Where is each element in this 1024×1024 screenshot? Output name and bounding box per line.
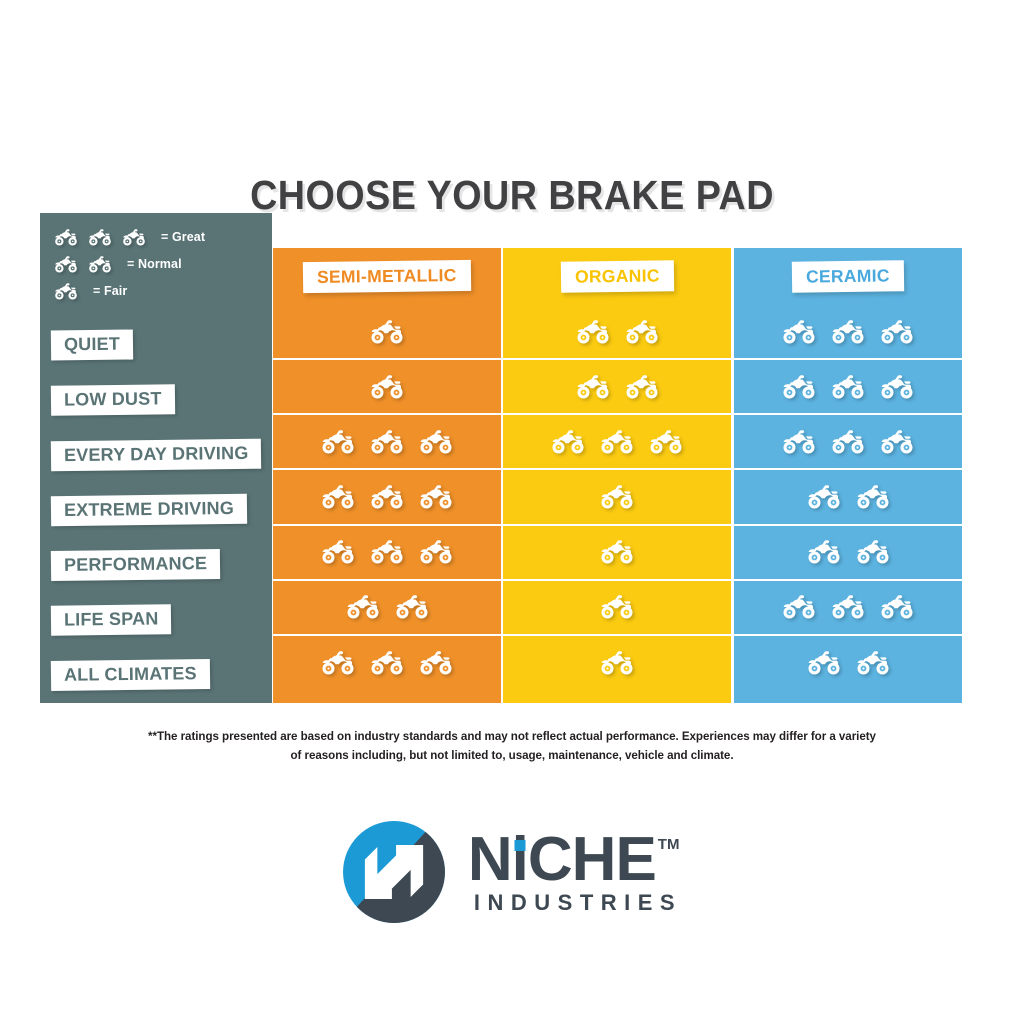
atv-icon [367, 482, 407, 512]
legend-row-great: = Great [52, 225, 267, 249]
atv-icon [853, 648, 893, 678]
table-cell [503, 470, 731, 525]
table-cell [273, 526, 501, 581]
atv-icon [877, 427, 917, 457]
atv-icon [86, 227, 114, 248]
criteria-label: EXTREME DRIVING [51, 494, 247, 526]
atv-icon [646, 427, 686, 457]
page-title: CHOOSE YOUR BRAKE PAD [41, 172, 983, 219]
atv-icon [573, 317, 613, 347]
rating-icons [779, 592, 917, 622]
atv-icon [416, 427, 456, 457]
wordmark-i-stem: i [512, 825, 528, 894]
rating-icons [597, 648, 637, 678]
rating-icons [318, 482, 456, 512]
rating-icons [318, 648, 456, 678]
atv-icon [120, 227, 148, 248]
list-item: QUIET [40, 317, 272, 372]
criteria-label: EVERY DAY DRIVING [51, 439, 262, 471]
atv-icon [367, 317, 407, 347]
table-cell [273, 305, 501, 360]
column-header: ORGANIC [503, 248, 731, 305]
atv-icon [804, 482, 844, 512]
column-body [503, 305, 731, 703]
rating-icons [573, 372, 662, 402]
atv-icon [392, 592, 432, 622]
rating-icons [573, 317, 662, 347]
table-cell [734, 305, 962, 360]
atv-icon [828, 317, 868, 347]
column-ceramic: CERAMIC [734, 213, 962, 703]
logo-wordmark-block: N i CHE TM INDUSTRIES [468, 828, 682, 916]
table-cell [273, 581, 501, 636]
rating-icons [804, 482, 893, 512]
atv-icon [877, 592, 917, 622]
table-cell [734, 360, 962, 415]
table-cell [734, 470, 962, 525]
legend-icons [52, 227, 154, 248]
criteria-label: ALL CLIMATES [51, 659, 210, 691]
list-item: LOW DUST [40, 372, 272, 427]
table-cell [503, 415, 731, 470]
atv-icon [622, 372, 662, 402]
legend-label: = Normal [127, 257, 182, 271]
rating-icons [804, 537, 893, 567]
wordmark-i: i [512, 832, 528, 888]
rating-icons [318, 537, 456, 567]
rating-icons [779, 317, 917, 347]
column-header: SEMI-METALLIC [273, 248, 501, 305]
column-header-label: SEMI-METALLIC [303, 260, 471, 294]
table-cell [273, 636, 501, 691]
atv-icon [597, 427, 637, 457]
table-cell [503, 581, 731, 636]
atv-icon [877, 372, 917, 402]
legend-label: = Great [161, 230, 205, 244]
rating-legend: = Great = Normal = Fair [52, 225, 267, 306]
wordmark-che: CHE [528, 832, 656, 888]
rating-icons [548, 427, 686, 457]
table-cell [273, 415, 501, 470]
atv-icon [828, 592, 868, 622]
list-item: EVERY DAY DRIVING [40, 427, 272, 482]
column-body [734, 305, 962, 703]
column-organic: ORGANIC [503, 213, 731, 703]
atv-icon [804, 648, 844, 678]
legend-row-normal: = Normal [52, 252, 267, 276]
column-body [273, 305, 501, 703]
niche-circle-n-monogram-icon [342, 820, 446, 924]
atv-icon [416, 648, 456, 678]
criteria-label: LOW DUST [51, 384, 175, 415]
atv-icon [828, 372, 868, 402]
atv-icon [367, 648, 407, 678]
rating-icons [318, 427, 456, 457]
atv-icon [779, 317, 819, 347]
rating-icons [779, 427, 917, 457]
wordmark-i-dot [514, 840, 525, 851]
brake-pad-comparison-table: = Great = Normal = Fair QUIET LOW DUST E… [40, 213, 964, 703]
atv-icon [828, 427, 868, 457]
atv-icon [779, 427, 819, 457]
wordmark: N i CHE TM [468, 832, 682, 888]
rating-icons [343, 592, 432, 622]
atv-icon [853, 537, 893, 567]
atv-icon [318, 427, 358, 457]
legend-label: = Fair [93, 284, 127, 298]
atv-icon [52, 254, 80, 275]
column-header-label: ORGANIC [560, 260, 673, 293]
atv-icon [416, 482, 456, 512]
table-cell [273, 470, 501, 525]
legend-row-fair: = Fair [52, 279, 267, 303]
criteria-sidebar: = Great = Normal = Fair QUIET LOW DUST E… [40, 213, 272, 703]
rating-icons [597, 592, 637, 622]
atv-icon [804, 537, 844, 567]
rating-icons [367, 317, 407, 347]
atv-icon [367, 427, 407, 457]
table-cell [503, 305, 731, 360]
atv-icon [367, 372, 407, 402]
table-cell [273, 360, 501, 415]
atv-icon [318, 648, 358, 678]
rating-icons [779, 372, 917, 402]
atv-icon [597, 592, 637, 622]
criteria-label: LIFE SPAN [51, 604, 172, 635]
trademark-symbol: TM [658, 838, 680, 852]
table-cell [734, 581, 962, 636]
atv-icon [86, 254, 114, 275]
wordmark-n: N [468, 832, 512, 888]
atv-icon [853, 482, 893, 512]
column-semi-metallic: SEMI-METALLIC [273, 213, 501, 703]
table-cell [503, 360, 731, 415]
list-item: PERFORMANCE [40, 538, 272, 593]
table-cell [734, 526, 962, 581]
list-item: ALL CLIMATES [40, 648, 272, 703]
list-item: LIFE SPAN [40, 593, 272, 648]
atv-icon [779, 592, 819, 622]
atv-icon [343, 592, 383, 622]
atv-icon [52, 281, 80, 302]
atv-icon [779, 372, 819, 402]
logo-tagline: INDUSTRIES [468, 890, 682, 916]
atv-icon [548, 427, 588, 457]
atv-icon [622, 317, 662, 347]
criteria-label: PERFORMANCE [51, 549, 221, 581]
brand-logo: N i CHE TM INDUSTRIES [0, 812, 1024, 932]
criteria-label-list: QUIET LOW DUST EVERY DAY DRIVING EXTREME… [40, 317, 272, 703]
legend-icons [52, 281, 86, 302]
column-header-label: CERAMIC [792, 260, 904, 293]
list-item: EXTREME DRIVING [40, 482, 272, 537]
table-cell [734, 415, 962, 470]
atv-icon [597, 648, 637, 678]
column-header: CERAMIC [734, 248, 962, 305]
rating-icons [367, 372, 407, 402]
rating-icons [597, 537, 637, 567]
table-cell [734, 636, 962, 691]
atv-icon [597, 537, 637, 567]
legend-icons [52, 254, 120, 275]
rating-icons [804, 648, 893, 678]
atv-icon [367, 537, 407, 567]
table-cell [503, 636, 731, 691]
atv-icon [877, 317, 917, 347]
atv-icon [597, 482, 637, 512]
atv-icon [318, 482, 358, 512]
atv-icon [416, 537, 456, 567]
atv-icon [318, 537, 358, 567]
criteria-label: QUIET [51, 329, 133, 360]
table-cell [503, 526, 731, 581]
disclaimer-text: **The ratings presented are based on ind… [142, 727, 882, 765]
rating-icons [597, 482, 637, 512]
atv-icon [573, 372, 613, 402]
atv-icon [52, 227, 80, 248]
